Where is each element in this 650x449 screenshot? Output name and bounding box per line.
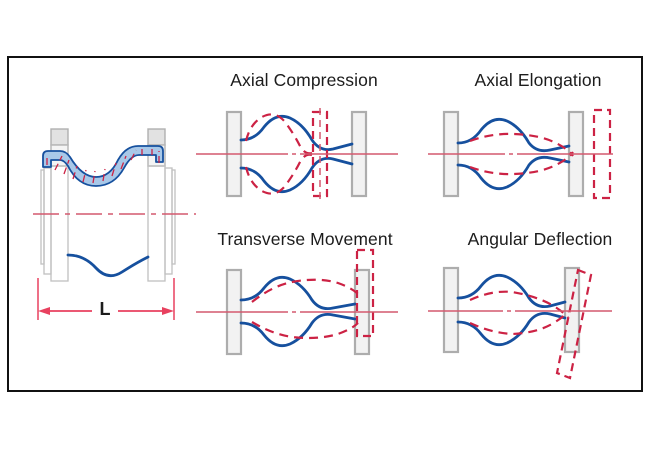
diagram-canvas: Axial Compression Axial Elongation Trans…	[0, 0, 650, 449]
dimension-label-L: L	[94, 299, 116, 320]
panel-title-axial-elongation: Axial Elongation	[438, 70, 638, 91]
panel-title-angular-deflection: Angular Deflection	[440, 229, 640, 250]
panel-title-transverse-movement: Transverse Movement	[200, 229, 410, 250]
diagram-frame	[7, 56, 643, 392]
panel-title-axial-compression: Axial Compression	[204, 70, 404, 91]
